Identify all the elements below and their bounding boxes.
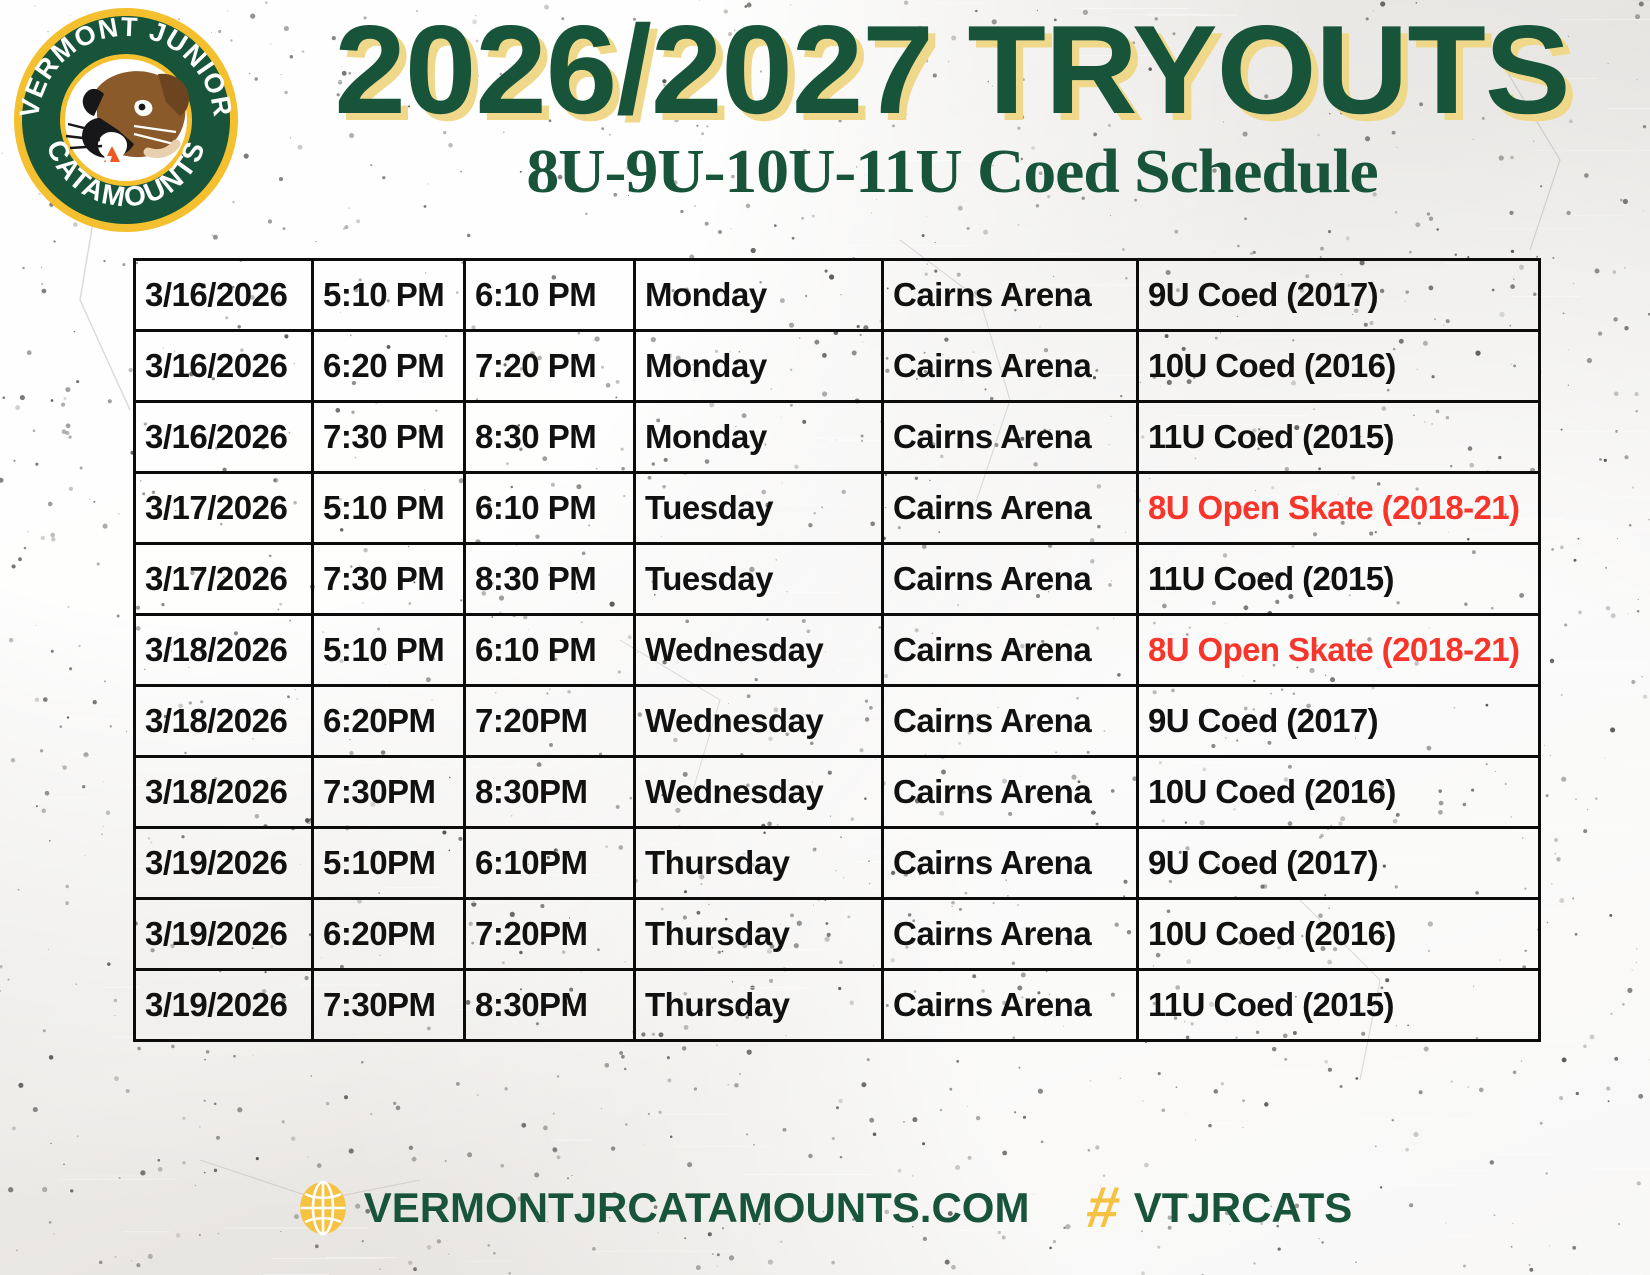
hashtag-text: VTJRCATS (1134, 1184, 1353, 1232)
cell-rink: Cairns Arena (883, 260, 1138, 331)
cell-date: 3/19/2026 (135, 828, 313, 899)
cell-rink: Cairns Arena (883, 473, 1138, 544)
cell-date: 3/19/2026 (135, 970, 313, 1041)
cell-rink: Cairns Arena (883, 757, 1138, 828)
team-logo: VERMONT JUNIOR CATAMOUNTS (8, 6, 244, 234)
cell-day: Tuesday (635, 544, 883, 615)
cell-rink: Cairns Arena (883, 331, 1138, 402)
cell-group: 8U Open Skate (2018-21) (1138, 473, 1540, 544)
cell-day: Thursday (635, 899, 883, 970)
footer: VERMONTJRCATAMOUNTS.COM # VTJRCATS (0, 1158, 1650, 1258)
cell-end: 6:10PM (465, 828, 635, 899)
table-row: 3/16/20266:20 PM7:20 PMMondayCairns Aren… (135, 331, 1540, 402)
cell-date: 3/16/2026 (135, 402, 313, 473)
table-row: 3/16/20267:30 PM8:30 PMMondayCairns Aren… (135, 402, 1540, 473)
cell-start: 6:20PM (313, 899, 465, 970)
cell-day: Tuesday (635, 473, 883, 544)
cell-day: Wednesday (635, 686, 883, 757)
cell-group: 10U Coed (2016) (1138, 899, 1540, 970)
cell-date: 3/18/2026 (135, 757, 313, 828)
website-link[interactable]: VERMONTJRCATAMOUNTS.COM (298, 1180, 1030, 1236)
cell-end: 6:10 PM (465, 260, 635, 331)
cell-start: 6:20 PM (313, 331, 465, 402)
cell-group: 11U Coed (2015) (1138, 544, 1540, 615)
cell-date: 3/18/2026 (135, 686, 313, 757)
cell-day: Monday (635, 331, 883, 402)
hash-icon: # (1083, 1179, 1123, 1237)
schedule-table-container: 3/16/20265:10 PM6:10 PMMondayCairns Aren… (133, 258, 1538, 1042)
cell-end: 8:30PM (465, 970, 635, 1041)
table-row: 3/19/20267:30PM8:30PMThursdayCairns Aren… (135, 970, 1540, 1041)
cell-group: 11U Coed (2015) (1138, 402, 1540, 473)
globe-icon (298, 1180, 348, 1236)
cell-end: 7:20PM (465, 899, 635, 970)
cell-rink: Cairns Arena (883, 615, 1138, 686)
website-text: VERMONTJRCATAMOUNTS.COM (364, 1184, 1030, 1232)
table-row: 3/16/20265:10 PM6:10 PMMondayCairns Aren… (135, 260, 1540, 331)
cell-end: 8:30 PM (465, 402, 635, 473)
cell-group: 9U Coed (2017) (1138, 260, 1540, 331)
table-row: 3/19/20265:10PM6:10PMThursdayCairns Aren… (135, 828, 1540, 899)
cell-end: 6:10 PM (465, 473, 635, 544)
hashtag-block[interactable]: # VTJRCATS (1087, 1179, 1352, 1237)
cell-rink: Cairns Arena (883, 899, 1138, 970)
cell-date: 3/17/2026 (135, 473, 313, 544)
cell-group: 9U Coed (2017) (1138, 828, 1540, 899)
cell-start: 5:10 PM (313, 615, 465, 686)
cell-date: 3/18/2026 (135, 615, 313, 686)
cell-rink: Cairns Arena (883, 544, 1138, 615)
cell-end: 6:10 PM (465, 615, 635, 686)
cell-group: 8U Open Skate (2018-21) (1138, 615, 1540, 686)
cell-end: 8:30PM (465, 757, 635, 828)
cell-end: 7:20PM (465, 686, 635, 757)
cell-group: 10U Coed (2016) (1138, 757, 1540, 828)
cell-day: Monday (635, 402, 883, 473)
cell-date: 3/16/2026 (135, 331, 313, 402)
page-subtitle: 8U-9U-10U-11U Coed Schedule (221, 141, 1650, 203)
cell-rink: Cairns Arena (883, 828, 1138, 899)
cell-rink: Cairns Arena (883, 970, 1138, 1041)
cell-date: 3/19/2026 (135, 899, 313, 970)
cell-start: 7:30 PM (313, 402, 465, 473)
cell-end: 8:30 PM (465, 544, 635, 615)
cell-day: Thursday (635, 970, 883, 1041)
cell-end: 7:20 PM (465, 331, 635, 402)
table-row: 3/18/20265:10 PM6:10 PMWednesdayCairns A… (135, 615, 1540, 686)
cell-start: 7:30PM (313, 970, 465, 1041)
cell-day: Monday (635, 260, 883, 331)
cell-day: Wednesday (635, 757, 883, 828)
cell-date: 3/17/2026 (135, 544, 313, 615)
cell-rink: Cairns Arena (883, 686, 1138, 757)
table-row: 3/19/20266:20PM7:20PMThursdayCairns Aren… (135, 899, 1540, 970)
cell-start: 5:10PM (313, 828, 465, 899)
schedule-table: 3/16/20265:10 PM6:10 PMMondayCairns Aren… (133, 258, 1541, 1042)
table-row: 3/18/20267:30PM8:30PMWednesdayCairns Are… (135, 757, 1540, 828)
cell-rink: Cairns Arena (883, 402, 1138, 473)
cell-group: 9U Coed (2017) (1138, 686, 1540, 757)
table-row: 3/17/20265:10 PM6:10 PMTuesdayCairns Are… (135, 473, 1540, 544)
cell-start: 5:10 PM (313, 260, 465, 331)
cell-group: 10U Coed (2016) (1138, 331, 1540, 402)
cell-start: 7:30PM (313, 757, 465, 828)
cell-start: 7:30 PM (313, 544, 465, 615)
cell-group: 11U Coed (2015) (1138, 970, 1540, 1041)
cell-day: Thursday (635, 828, 883, 899)
table-row: 3/17/20267:30 PM8:30 PMTuesdayCairns Are… (135, 544, 1540, 615)
cell-day: Wednesday (635, 615, 883, 686)
page-title: 2026/2027 TRYOUTS (248, 6, 1650, 135)
title-block: 2026/2027 TRYOUTS 8U-9U-10U-11U Coed Sch… (262, 6, 1642, 203)
cell-start: 6:20PM (313, 686, 465, 757)
table-row: 3/18/20266:20PM7:20PMWednesdayCairns Are… (135, 686, 1540, 757)
header: VERMONT JUNIOR CATAMOUNTS (0, 0, 1650, 240)
cell-start: 5:10 PM (313, 473, 465, 544)
cell-date: 3/16/2026 (135, 260, 313, 331)
